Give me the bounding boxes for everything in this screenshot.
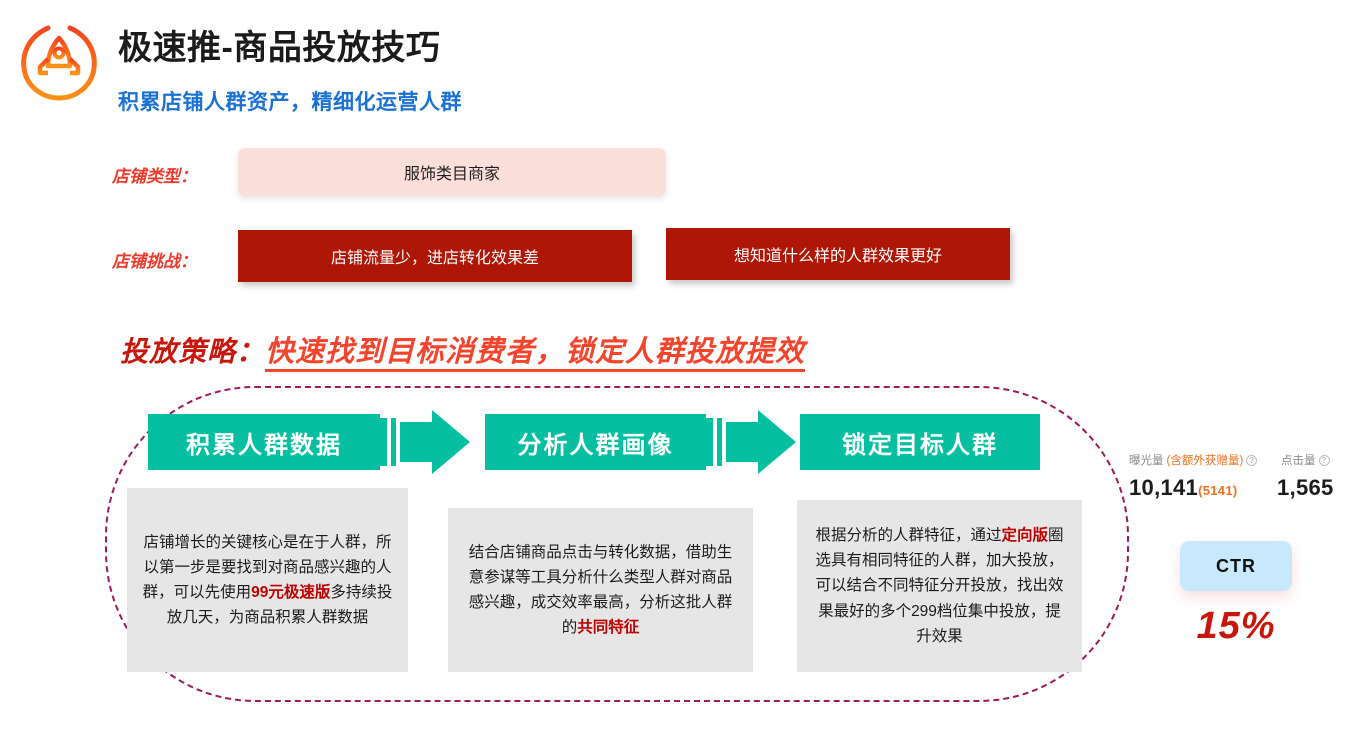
shop-type-value: 服饰类目商家 <box>238 148 666 196</box>
flow-step-head-2: 分析人群画像 <box>485 414 706 470</box>
metric-impressions-bonus: (5141) <box>1198 483 1237 498</box>
metric-impressions-label: 曝光量(含额外获赠量) ? <box>1129 452 1257 468</box>
page-title: 极速推-商品投放技巧 <box>118 20 440 69</box>
metric-clicks: 点击量 ? 1,565 <box>1277 452 1334 501</box>
metric-label-extra: (含额外获赠量) <box>1167 452 1244 468</box>
flow-step-head-3: 锁定目标人群 <box>800 414 1040 470</box>
metric-label-text: 曝光量 <box>1129 452 1164 468</box>
help-icon[interactable]: ? <box>1246 455 1257 466</box>
ctr-badge: CTR <box>1180 541 1292 591</box>
flow-step-body-3: 根据分析的人群特征，通过定向版圈选具有相同特征的人群，加大投放，可以结合不同特征… <box>797 500 1082 672</box>
right-arrow-icon <box>706 408 806 476</box>
flow-step-head-1: 积累人群数据 <box>148 414 380 470</box>
body-text-tail: 圈选具有相同特征的人群，加大投放，可以结合不同特征分开投放，找出效果最好的多个2… <box>815 527 1063 644</box>
rocket-in-ring-icon <box>18 16 100 104</box>
shop-type-label: 店铺类型： <box>112 162 197 187</box>
flow-step-body-1: 店铺增长的关键核心是在于人群，所以第一步是要找到对商品感兴趣的人群，可以先使用9… <box>127 488 408 672</box>
help-icon[interactable]: ? <box>1319 455 1330 466</box>
ctr-value: 15% <box>1180 605 1292 648</box>
flow-step-body-2: 结合店铺商品点击与转化数据，借助生意参谋等工具分析什么类型人群对商品感兴趣，成交… <box>448 508 753 672</box>
body-highlight: 99元极速版 <box>251 584 330 601</box>
shop-challenge-label: 店铺挑战： <box>112 247 197 272</box>
body-highlight: 定向版 <box>1001 527 1048 544</box>
metric-clicks-value: 1,565 <box>1277 475 1334 501</box>
body-text: 根据分析的人群特征，通过 <box>815 527 1001 544</box>
metric-impressions-value-group: 10,141(5141) <box>1129 475 1257 501</box>
metric-label-text: 点击量 <box>1281 452 1316 468</box>
slide-root: 极速推-商品投放技巧 积累店铺人群资产，精细化运营人群 店铺类型： 服饰类目商家… <box>0 0 1368 746</box>
metric-impressions-value: 10,141 <box>1129 475 1198 500</box>
strategy-heading: 投放策略：快速找到目标消费者，锁定人群投放提效 <box>120 328 805 370</box>
body-highlight: 共同特征 <box>577 619 639 636</box>
strategy-label: 投放策略： <box>120 336 265 367</box>
challenge-card: 想知道什么样的人群效果更好 <box>666 228 1010 280</box>
page-subtitle: 积累店铺人群资产，精细化运营人群 <box>118 86 462 116</box>
right-arrow-icon <box>380 408 480 476</box>
metric-impressions: 曝光量(含额外获赠量) ? 10,141(5141) <box>1129 452 1257 501</box>
metric-clicks-label: 点击量 ? <box>1277 452 1334 468</box>
challenge-card: 店铺流量少，进店转化效果差 <box>238 230 632 282</box>
strategy-value: 快速找到目标消费者，锁定人群投放提效 <box>265 336 805 372</box>
